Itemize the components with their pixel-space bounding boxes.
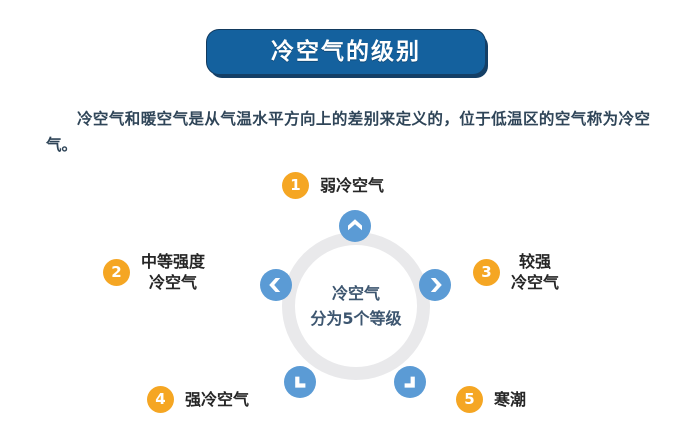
title-banner-container: 冷空气的级别 xyxy=(0,24,692,80)
ring-center-label: 冷空气 分为5个等级 xyxy=(285,281,427,331)
title-banner: 冷空气的级别 xyxy=(207,30,485,74)
level-number-badge: 5 xyxy=(456,386,483,413)
level-label: 较强 冷空气 xyxy=(511,251,559,293)
ring-center-line2: 分为5个等级 xyxy=(285,306,427,331)
level-label: 寒潮 xyxy=(494,389,526,410)
arrow-right-icon xyxy=(419,269,451,301)
level-number-badge: 4 xyxy=(147,386,174,413)
arrow-down-left-icon xyxy=(284,366,316,398)
level-item-4: 4 强冷空气 xyxy=(147,386,249,413)
arrow-left-icon xyxy=(260,269,292,301)
level-label: 中等强度 冷空气 xyxy=(141,251,205,293)
infographic-page: 冷空气的级别 冷空气和暖空气是从气温水平方向上的差别来定义的，位于低温区的空气称… xyxy=(0,0,692,448)
level-number-badge: 2 xyxy=(103,259,130,286)
level-label: 强冷空气 xyxy=(185,389,249,410)
level-number-badge: 3 xyxy=(473,259,500,286)
level-number-badge: 1 xyxy=(282,172,309,199)
level-item-2: 2 中等强度 冷空气 xyxy=(103,251,205,293)
ring-center-line1: 冷空气 xyxy=(285,281,427,306)
level-label: 弱冷空气 xyxy=(320,175,384,196)
level-item-1: 1 弱冷空气 xyxy=(282,172,384,199)
level-item-5: 5 寒潮 xyxy=(456,386,526,413)
page-title: 冷空气的级别 xyxy=(271,41,421,64)
arrow-down-right-icon xyxy=(394,366,426,398)
level-item-3: 3 较强 冷空气 xyxy=(473,251,559,293)
arrow-up-icon xyxy=(339,210,371,242)
intro-paragraph: 冷空气和暖空气是从气温水平方向上的差别来定义的，位于低温区的空气称为冷空气。 xyxy=(46,106,650,158)
